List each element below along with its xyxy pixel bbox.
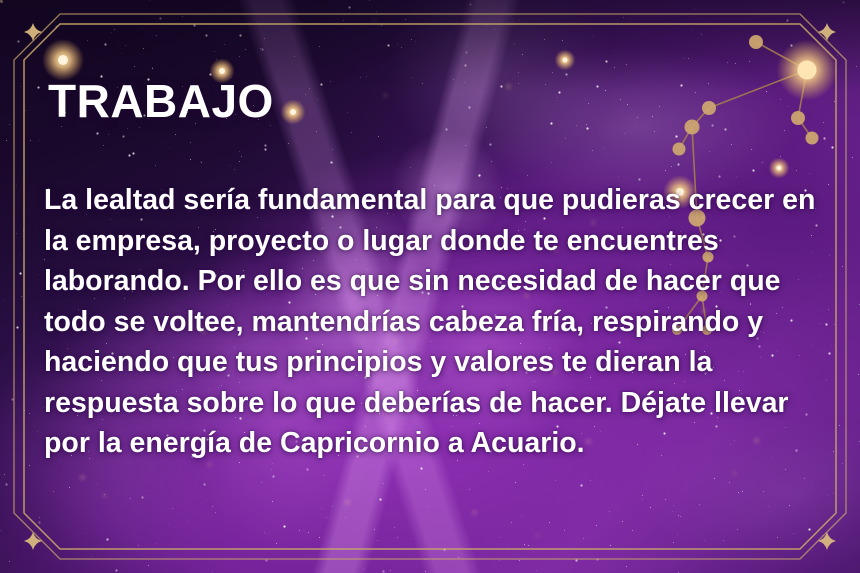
- horoscope-card: TRABAJO La lealtad sería fundamental par…: [0, 0, 860, 573]
- card-content: TRABAJO La lealtad sería fundamental par…: [44, 78, 820, 464]
- body-paragraph: La lealtad sería fundamental para que pu…: [44, 180, 820, 464]
- page-title: TRABAJO: [48, 78, 820, 124]
